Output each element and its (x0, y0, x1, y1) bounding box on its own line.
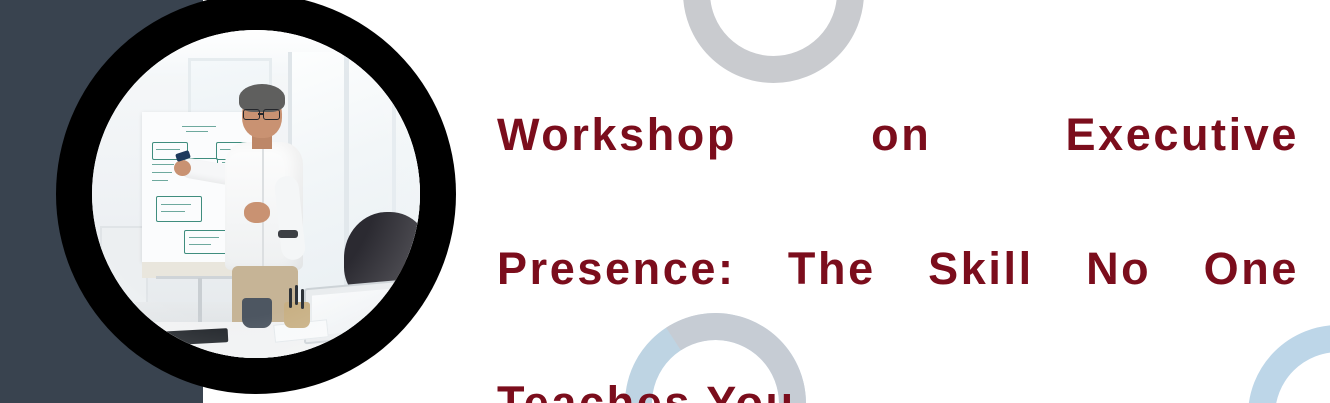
promo-banner: Workshop on Executive Presence: The Skil… (0, 0, 1330, 403)
page-title: Workshop on Executive Presence: The Skil… (497, 101, 1299, 403)
presenter-photo (92, 30, 420, 358)
presenter-photo-ring (56, 0, 456, 394)
ring-top-icon (683, 0, 864, 83)
headline-line-2: Presence: The Skill No One (497, 235, 1299, 369)
glasses-icon (242, 109, 282, 118)
coffee-mug-icon (242, 298, 272, 328)
headline-line-1: Workshop on Executive (497, 101, 1299, 235)
office-scene-illustration (92, 30, 420, 358)
pen-cup-icon (284, 302, 310, 328)
headline-line-3: Teaches You (497, 369, 1299, 403)
